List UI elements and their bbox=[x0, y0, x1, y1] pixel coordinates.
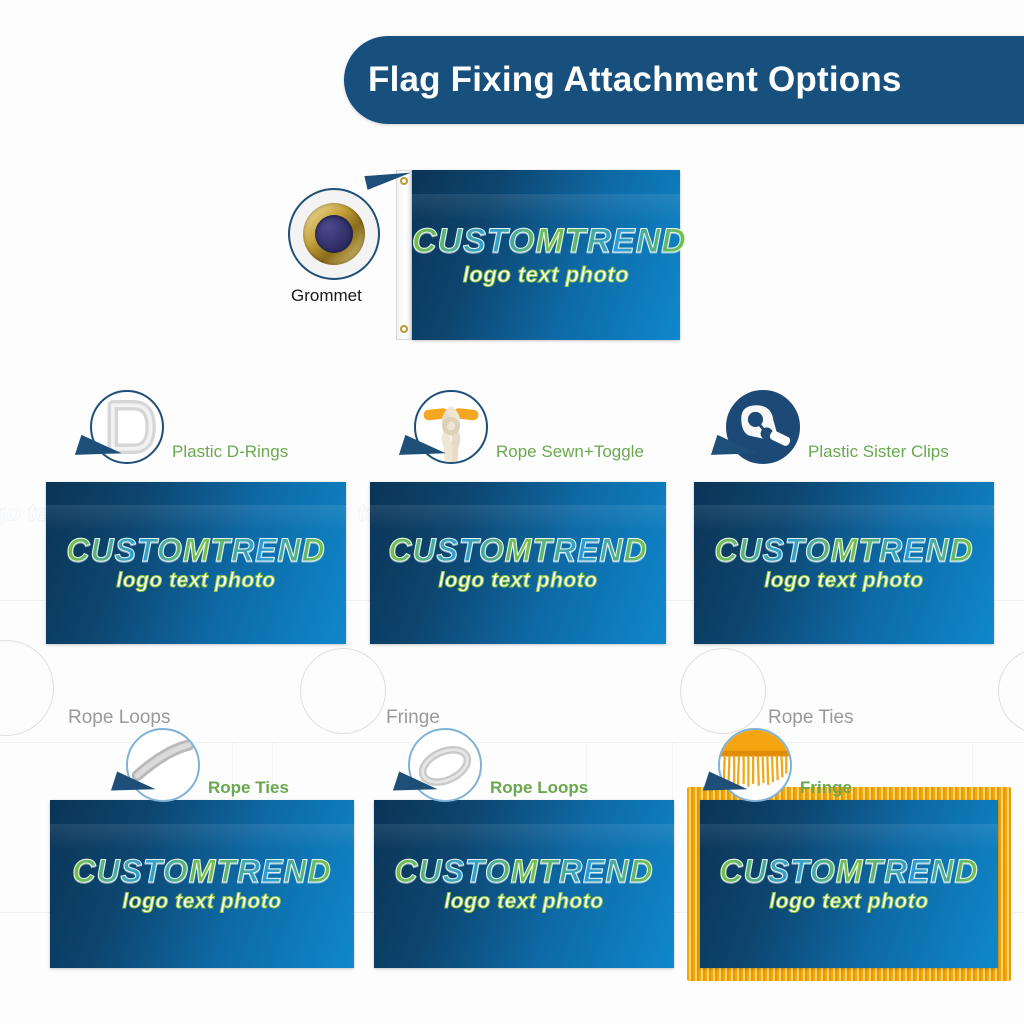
option-flag-rope-ties: CUSTOMTREND logo text photo bbox=[50, 800, 354, 968]
header-banner: Flag Fixing Attachment Options bbox=[344, 36, 1024, 124]
option-flag-plastic-sister-clips: CUSTOMTREND logo text photo bbox=[694, 482, 994, 644]
featured-flag: CUSTOMTREND logo text photo bbox=[412, 170, 680, 340]
flag-hoist-strip bbox=[396, 170, 412, 340]
callout-label: Rope Loops bbox=[490, 778, 588, 798]
page-title: Flag Fixing Attachment Options bbox=[344, 60, 902, 100]
flag-brand-text: CUSTOMTREND bbox=[714, 534, 973, 568]
option-flag-rope-sewn-toggle: CUSTOMTREND logo text photo bbox=[370, 482, 666, 644]
fringe-icon bbox=[718, 728, 792, 802]
flag-brand-text: CUSTOMTREND bbox=[412, 224, 687, 260]
flag-artwork: CUSTOMTREND logo text photo bbox=[700, 855, 998, 913]
flag-body: CUSTOMTREND logo text photo bbox=[46, 482, 346, 644]
d-ring-shape bbox=[92, 392, 162, 462]
flag-brand-text: CUSTOMTREND bbox=[72, 855, 331, 889]
grommet-top bbox=[400, 177, 408, 185]
callout-label: Rope Ties bbox=[208, 778, 289, 798]
grommet-label: Grommet bbox=[291, 286, 362, 306]
option-flag-plastic-d-rings: CUSTOMTREND logo text photo bbox=[46, 482, 346, 644]
callout-label: Plastic Sister Clips bbox=[808, 442, 949, 462]
callout-rope-loops[interactable]: Rope Loops bbox=[408, 728, 708, 818]
infographic-canvas: logo text photo logo text photo Rope Loo… bbox=[0, 0, 1024, 1024]
flag-artwork: CUSTOMTREND logo text photo bbox=[50, 855, 354, 913]
callout-plastic-sister-clips[interactable]: Plastic Sister Clips bbox=[726, 390, 1024, 490]
flag-tagline-text: logo text photo bbox=[122, 891, 281, 913]
d-ring-icon bbox=[90, 390, 164, 464]
flag-artwork: CUSTOMTREND logo text photo bbox=[412, 224, 680, 286]
flag-brand-text: CUSTOMTREND bbox=[394, 855, 653, 889]
grommet-icon bbox=[288, 188, 380, 280]
flag-tagline-text: logo text photo bbox=[764, 570, 923, 592]
rope-loop-icon bbox=[408, 728, 482, 802]
flag-body: CUSTOMTREND logo text photo bbox=[370, 482, 666, 644]
rope-loop-shape bbox=[410, 730, 480, 800]
flag-tagline-text: logo text photo bbox=[769, 891, 928, 913]
flag-body: CUSTOMTREND logo text photo bbox=[412, 170, 680, 340]
rope-toggle-shape bbox=[416, 392, 486, 462]
callout-fringe[interactable]: Fringe bbox=[718, 728, 1008, 818]
flag-body: CUSTOMTREND logo text photo bbox=[50, 800, 354, 968]
callout-label: Rope Sewn+Toggle bbox=[496, 442, 644, 462]
fringe-shape bbox=[720, 730, 790, 800]
callout-plastic-d-rings[interactable]: Plastic D-Rings bbox=[90, 390, 410, 490]
callout-label: Fringe bbox=[800, 778, 852, 798]
ghost-label-rope-ties: Rope Ties bbox=[768, 707, 854, 729]
flag-brand-text: CUSTOMTREND bbox=[719, 855, 978, 889]
rope-tie-icon bbox=[126, 728, 200, 802]
flag-artwork: CUSTOMTREND logo text photo bbox=[694, 534, 994, 592]
rope-toggle-icon bbox=[414, 390, 488, 464]
flag-body: CUSTOMTREND logo text photo bbox=[374, 800, 674, 968]
flag-tagline-text: logo text photo bbox=[116, 570, 275, 592]
ghost-label-rope-loops: Rope Loops bbox=[68, 707, 170, 729]
flag-body: CUSTOMTREND logo text photo bbox=[700, 800, 998, 968]
flag-brand-text: CUSTOMTREND bbox=[388, 534, 647, 568]
option-flag-rope-loops: CUSTOMTREND logo text photo bbox=[374, 800, 674, 968]
callout-label: Plastic D-Rings bbox=[172, 442, 288, 462]
callout-rope-ties[interactable]: Rope Ties bbox=[126, 728, 426, 818]
sister-clip-shape bbox=[728, 392, 798, 462]
sister-clip-icon bbox=[726, 390, 800, 464]
flag-tagline-text: logo text photo bbox=[438, 570, 597, 592]
callout-rope-sewn-toggle[interactable]: Rope Sewn+Toggle bbox=[414, 390, 734, 490]
flag-artwork: CUSTOMTREND logo text photo bbox=[46, 534, 346, 592]
grommet-hole bbox=[315, 215, 353, 253]
rope-tie-shape bbox=[128, 730, 198, 800]
ghost-label-fringe: Fringe bbox=[386, 707, 440, 729]
flag-tagline-text: logo text photo bbox=[444, 891, 603, 913]
grommet-bottom bbox=[400, 325, 408, 333]
flag-tagline-text: logo text photo bbox=[463, 262, 629, 285]
flag-brand-text: CUSTOMTREND bbox=[66, 534, 325, 568]
flag-body: CUSTOMTREND logo text photo bbox=[694, 482, 994, 644]
flag-artwork: CUSTOMTREND logo text photo bbox=[374, 855, 674, 913]
option-flag-fringe: CUSTOMTREND logo text photo bbox=[700, 800, 998, 968]
flag-artwork: CUSTOMTREND logo text photo bbox=[370, 534, 666, 592]
grommet-brass-ring bbox=[303, 203, 365, 265]
